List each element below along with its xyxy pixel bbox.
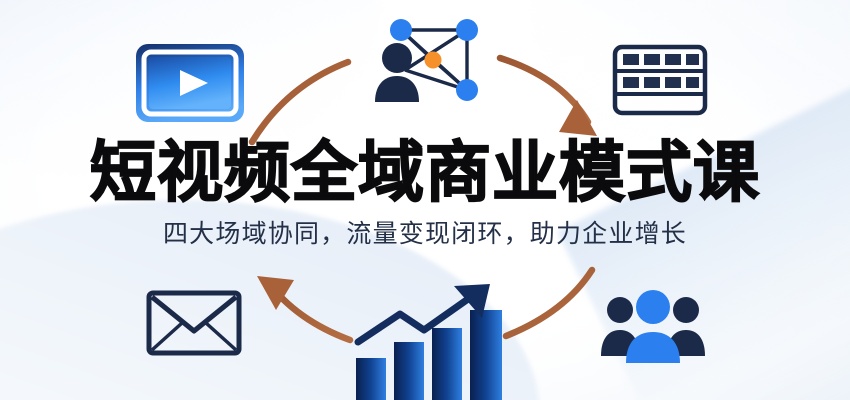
server-rack-icon bbox=[612, 44, 708, 116]
subheadline: 四大场域协同，流量变现闭环，助力企业增长 bbox=[0, 219, 850, 249]
growth-chart-icon bbox=[350, 282, 510, 400]
envelope-icon bbox=[146, 290, 242, 356]
video-player-icon bbox=[134, 42, 246, 124]
network-node-2 bbox=[456, 19, 478, 41]
network-node-center bbox=[425, 52, 442, 69]
user-group-center bbox=[626, 290, 680, 363]
arc-arrow-top-left bbox=[252, 62, 348, 142]
growth-bar-4 bbox=[470, 310, 502, 400]
text-block: 短视频全域商业模式课 四大场域协同，流量变现闭环，助力企业增长 bbox=[0, 138, 850, 249]
headline: 短视频全域商业模式课 bbox=[0, 138, 850, 207]
network-node-1 bbox=[390, 19, 412, 41]
network-node-3 bbox=[456, 79, 478, 101]
growth-bar-1 bbox=[356, 358, 386, 400]
network-nodes-icon bbox=[367, 8, 487, 112]
growth-bar-2 bbox=[394, 342, 424, 400]
growth-bar-3 bbox=[432, 328, 462, 400]
arc-arrow-bottom-right bbox=[506, 270, 592, 336]
promo-banner: 短视频全域商业模式课 四大场域协同，流量变现闭环，助力企业增长 bbox=[0, 0, 850, 400]
user-group-icon bbox=[600, 286, 706, 364]
arc-arrow-top-right-head bbox=[559, 100, 597, 136]
